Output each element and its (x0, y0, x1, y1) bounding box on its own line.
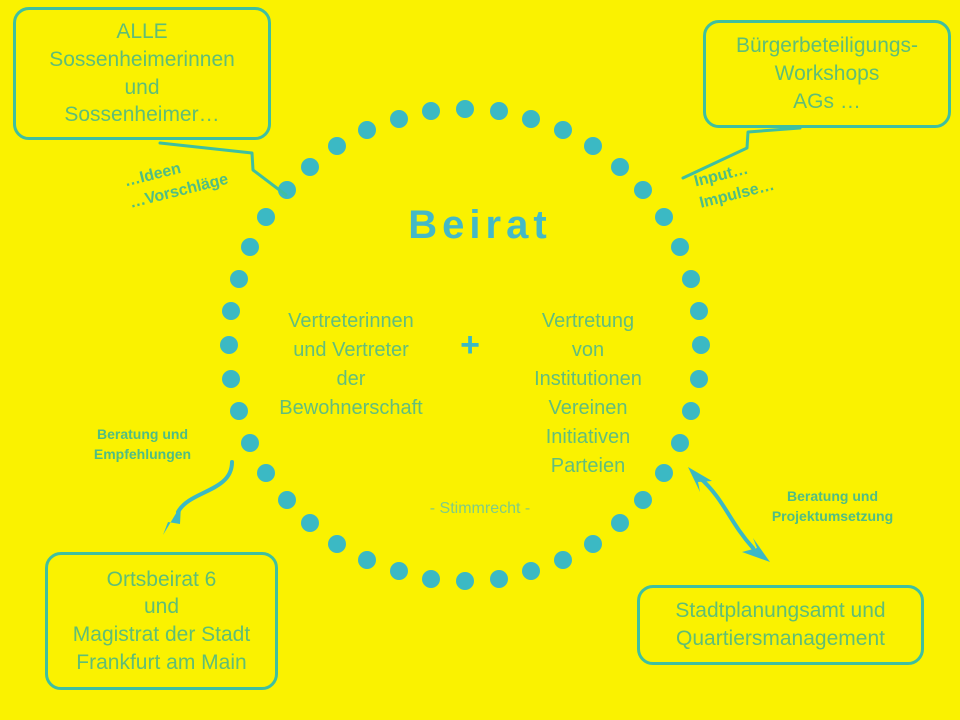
ring-dot (522, 562, 540, 580)
annotation-line: Beratung und (745, 487, 920, 507)
bubble-line: Bürgerbeteiligungs- (736, 32, 918, 60)
ring-dot (554, 121, 572, 139)
ring-dot (222, 370, 240, 388)
ring-dot (390, 110, 408, 128)
ring-dot (230, 270, 248, 288)
annotation-line: Empfehlungen (70, 445, 215, 465)
ring-dot (230, 402, 248, 420)
bubble-line: ALLE (116, 18, 167, 46)
ring-dot (390, 562, 408, 580)
box-line: Ortsbeirat 6 (107, 566, 217, 594)
ring-dot (328, 137, 346, 155)
ring-dot (490, 570, 508, 588)
ring-dot (422, 102, 440, 120)
bubble-line: Workshops (775, 60, 880, 88)
center-line: Institutionen (493, 365, 683, 394)
center-column-residents: Vertreterinnen und Vertreter der Bewohne… (256, 307, 446, 423)
ring-dot (690, 302, 708, 320)
center-line: Bewohnerschaft (256, 394, 446, 423)
center-line: der (256, 365, 446, 394)
center-line: von (493, 336, 683, 365)
center-line: Parteien (493, 452, 683, 481)
center-line: und Vertreter (256, 336, 446, 365)
bubble-line: AGs … (793, 88, 861, 116)
center-column-institutions: Vertretung von Institutionen Vereinen In… (493, 307, 683, 481)
center-line: Initiativen (493, 423, 683, 452)
center-line: Vertretung (493, 307, 683, 336)
ring-dot (220, 336, 238, 354)
ring-dot (682, 402, 700, 420)
ring-dot (692, 336, 710, 354)
ring-dot (301, 158, 319, 176)
box-line: Quartiersmanagement (676, 625, 885, 653)
ring-dot (554, 551, 572, 569)
arrowhead-down-right (742, 538, 770, 562)
speech-bubble-citizens[interactable]: ALLE Sossenheimerinnen und Sossenheimer… (13, 7, 271, 140)
speech-bubble-workshops[interactable]: Bürgerbeteiligungs- Workshops AGs … (703, 20, 951, 128)
plus-sign: + (440, 326, 500, 365)
ring-dot (522, 110, 540, 128)
ring-dot (682, 270, 700, 288)
ring-dot (328, 535, 346, 553)
ring-dot (241, 434, 259, 452)
ring-dot (257, 464, 275, 482)
ring-dot (690, 370, 708, 388)
ring-dot (584, 535, 602, 553)
annotation-line: Beratung und (70, 425, 215, 445)
arrowhead-up-left (688, 467, 712, 492)
ring-dot (222, 302, 240, 320)
bubble-line: und (124, 74, 159, 102)
diagram-canvas: ALLE Sossenheimerinnen und Sossenheimer…… (0, 0, 960, 720)
annotation-line: Projektumsetzung (745, 507, 920, 527)
box-line: Frankfurt am Main (76, 649, 246, 677)
ring-dot (358, 121, 376, 139)
ring-dot (422, 570, 440, 588)
box-ortsbeirat-magistrat[interactable]: Ortsbeirat 6 und Magistrat der Stadt Fra… (45, 552, 278, 690)
ring-dot (358, 551, 376, 569)
ring-dot (456, 100, 474, 118)
ring-dot (584, 137, 602, 155)
bubble-line: Sossenheimer… (64, 101, 219, 129)
center-line: Vertreterinnen (256, 307, 446, 336)
label-beratung-empfehlungen: Beratung und Empfehlungen (70, 425, 215, 464)
label-beratung-projektumsetzung: Beratung und Projektumsetzung (745, 487, 920, 526)
box-line: Stadtplanungsamt und (675, 597, 885, 625)
center-line: Vereinen (493, 394, 683, 423)
box-line: und (144, 593, 179, 621)
box-stadtplanungsamt-quartiersmanagement[interactable]: Stadtplanungsamt und Quartiersmanagement (637, 585, 924, 665)
ring-dot (634, 181, 652, 199)
ring-dot (611, 158, 629, 176)
ring-dot (278, 181, 296, 199)
bubble-line: Sossenheimerinnen (49, 46, 235, 74)
box-line: Magistrat der Stadt (73, 621, 250, 649)
ring-dot (456, 572, 474, 590)
ring-dot (490, 102, 508, 120)
